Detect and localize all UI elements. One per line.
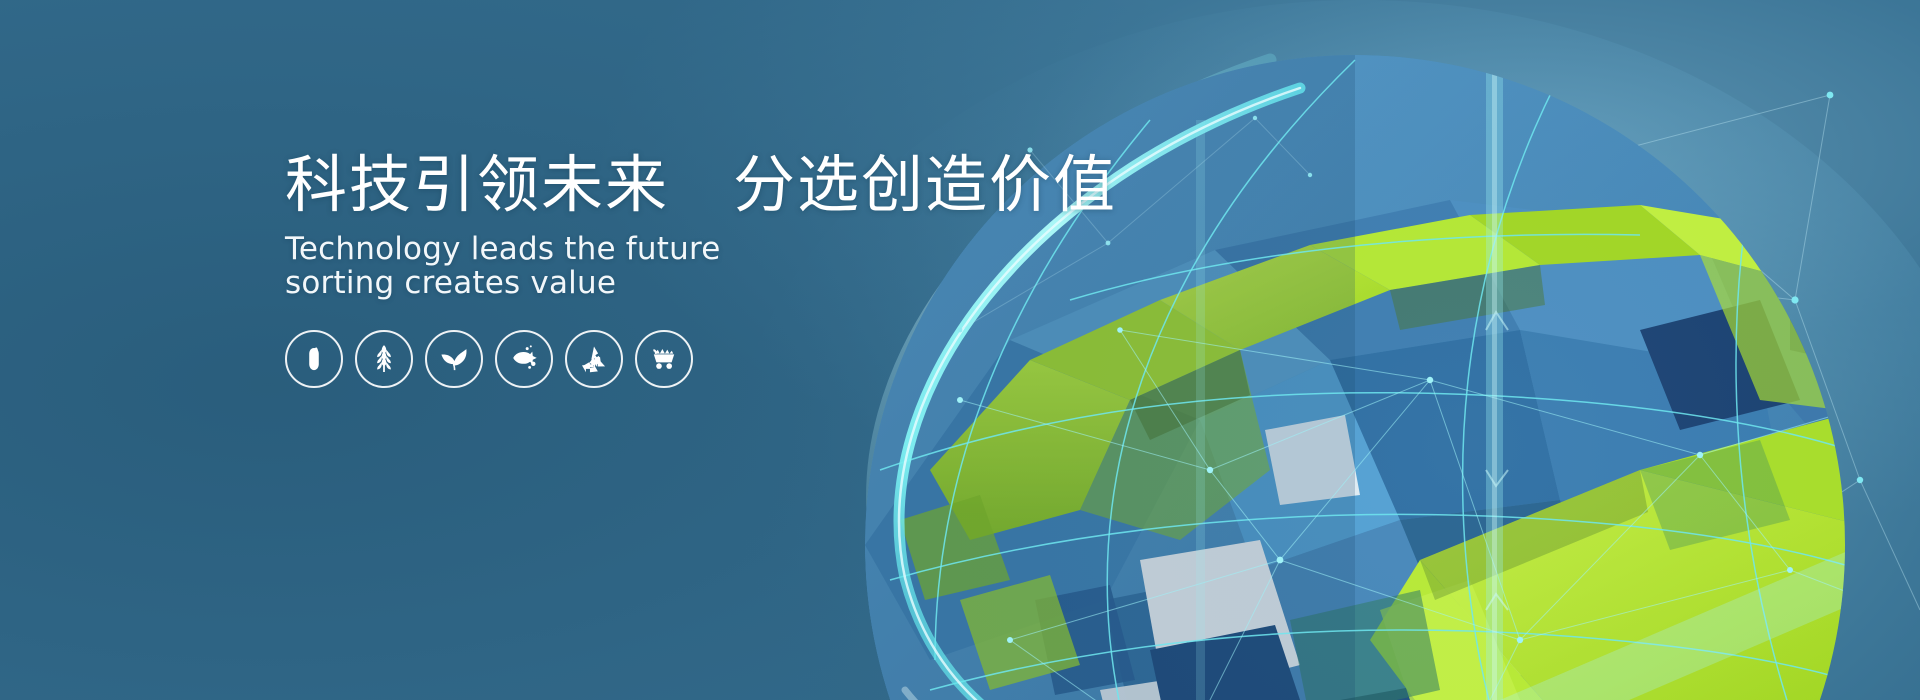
headline-chinese: 科技引领未来 分选创造价值: [285, 152, 1045, 218]
industry-icon-row: [285, 330, 693, 388]
recycle-icon: [579, 344, 609, 374]
icon-chip-fish[interactable]: [495, 330, 553, 388]
icon-chip-rice-grain[interactable]: [285, 330, 343, 388]
icon-chip-wheat-ear[interactable]: [355, 330, 413, 388]
icon-chip-mine-cart[interactable]: [635, 330, 693, 388]
hero-banner: 科技引领未来 分选创造价值 Technology leads the futur…: [0, 0, 1920, 700]
tea-leaf-icon: [438, 343, 470, 375]
icon-chip-tea-leaf[interactable]: [425, 330, 483, 388]
subtitle-line-2: sorting creates value: [285, 266, 1045, 301]
rice-grain-icon: [299, 344, 329, 374]
subtitle-english: Technology leads the future sorting crea…: [285, 232, 1045, 301]
subtitle-line-1: Technology leads the future: [285, 231, 721, 267]
wheat-ear-icon: [368, 343, 400, 375]
mine-cart-icon: [648, 343, 680, 375]
fish-icon: [508, 343, 540, 375]
hero-copy: 科技引领未来 分选创造价值 Technology leads the futur…: [285, 152, 1045, 301]
icon-chip-recycle[interactable]: [565, 330, 623, 388]
